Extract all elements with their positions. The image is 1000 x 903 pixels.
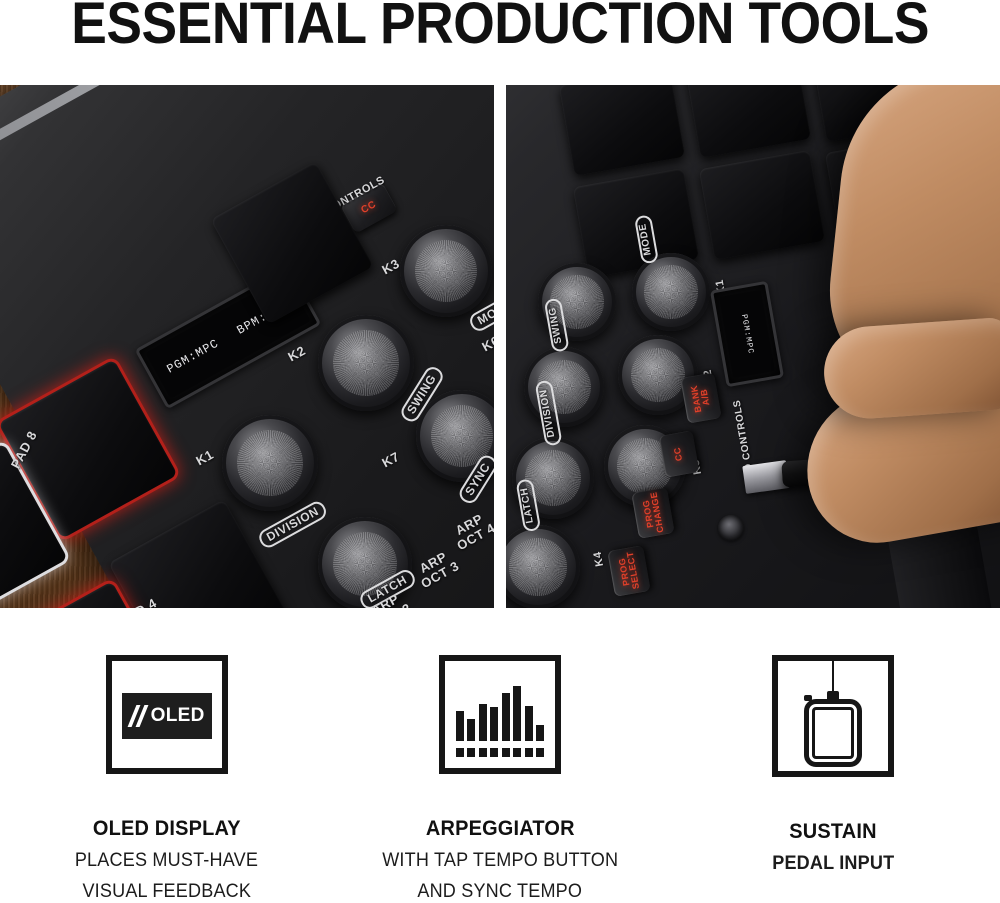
page-title: ESSENTIAL PRODUCTION TOOLS [71,0,929,50]
equalizer-dot [536,748,544,757]
equalizer-graphic [456,677,544,757]
equalizer-dot [490,748,498,757]
equalizer-dot [513,748,521,757]
equalizer-dot [502,748,510,757]
sustain-pedal-icon [772,655,894,777]
oled-pgm-text: PGM:MPC [165,336,222,376]
knob-k1[interactable] [222,415,318,511]
equalizer-bars-icon [439,655,561,774]
knob-label-k4: K4 [593,550,607,567]
pedal-inner-outline [812,707,854,759]
equalizer-dots [456,748,544,757]
oled-display-content: PGM:MPC [719,290,775,378]
feature-row: OLED OLED DISPLAY PLACES MUST-HAVE VISUA… [0,640,1000,903]
oled-screen-icon: OLED [106,655,228,774]
product-photo-band: PGM:MPC BPM:120 BANK A/B CC PAD CONTROLS… [0,85,1000,608]
oled-icon-label: OLED [151,705,205,727]
hand-finger [821,316,1000,421]
prog-select-button[interactable]: PROG SELECT [607,545,650,597]
feature-line: WITH TAP TEMPO BUTTON [382,850,618,872]
feature-oled-display: OLED OLED DISPLAY PLACES MUST-HAVE VISUA… [0,640,333,903]
knob-k2[interactable] [318,315,414,411]
pedal-cable-line [832,661,834,695]
photo-sustain-pedal-plug: K1 K2 K3 K4 SWING DIVISION LATCH MODE PG… [506,85,1000,608]
oled-icon-slashes [129,703,147,729]
equalizer-bar [525,706,533,741]
knob-k3[interactable] [400,225,492,317]
equalizer-dot [479,748,487,757]
equalizer-bar [479,704,487,741]
feature-line: PEDAL INPUT [772,853,894,875]
pad-grid-pad[interactable] [699,150,825,260]
equalizer-dot [467,748,475,757]
photo-controller-closeup: PGM:MPC BPM:120 BANK A/B CC PAD CONTROLS… [0,85,494,608]
pedal-graphic [778,661,888,771]
equalizer-bar [536,725,544,741]
photo-divider-gap [494,85,506,608]
equalizer-bar [513,686,521,741]
page-header: ESSENTIAL PRODUCTION TOOLS [0,0,1000,85]
feature-line: AND SYNC TEMPO [418,881,583,903]
equalizer-dot [525,748,533,757]
feature-line: PLACES MUST-HAVE [75,850,258,872]
feature-sustain-pedal-input: SUSTAIN PEDAL INPUT [667,640,1000,903]
knob-k2[interactable] [632,253,710,331]
feature-line: VISUAL FEEDBACK [82,881,251,903]
prog-change-button[interactable]: PROG CHANGE [631,487,674,539]
cc-button[interactable]: CC [659,430,700,477]
feature-arpeggiator: ARPEGGIATOR WITH TAP TEMPO BUTTON AND SY… [333,640,666,903]
equalizer-bar [467,719,475,741]
sustain-pedal-jack[interactable] [718,515,744,541]
equalizer-dot [456,748,464,757]
equalizer-bar [502,693,510,741]
equalizer-bar [456,711,464,741]
oled-icon-screen: OLED [122,693,212,739]
equalizer-bars [456,679,544,741]
feature-title: SUSTAIN [790,820,877,844]
feature-title: ARPEGGIATOR [426,817,575,841]
feature-title: OLED DISPLAY [93,817,241,841]
equalizer-bar [490,707,498,741]
